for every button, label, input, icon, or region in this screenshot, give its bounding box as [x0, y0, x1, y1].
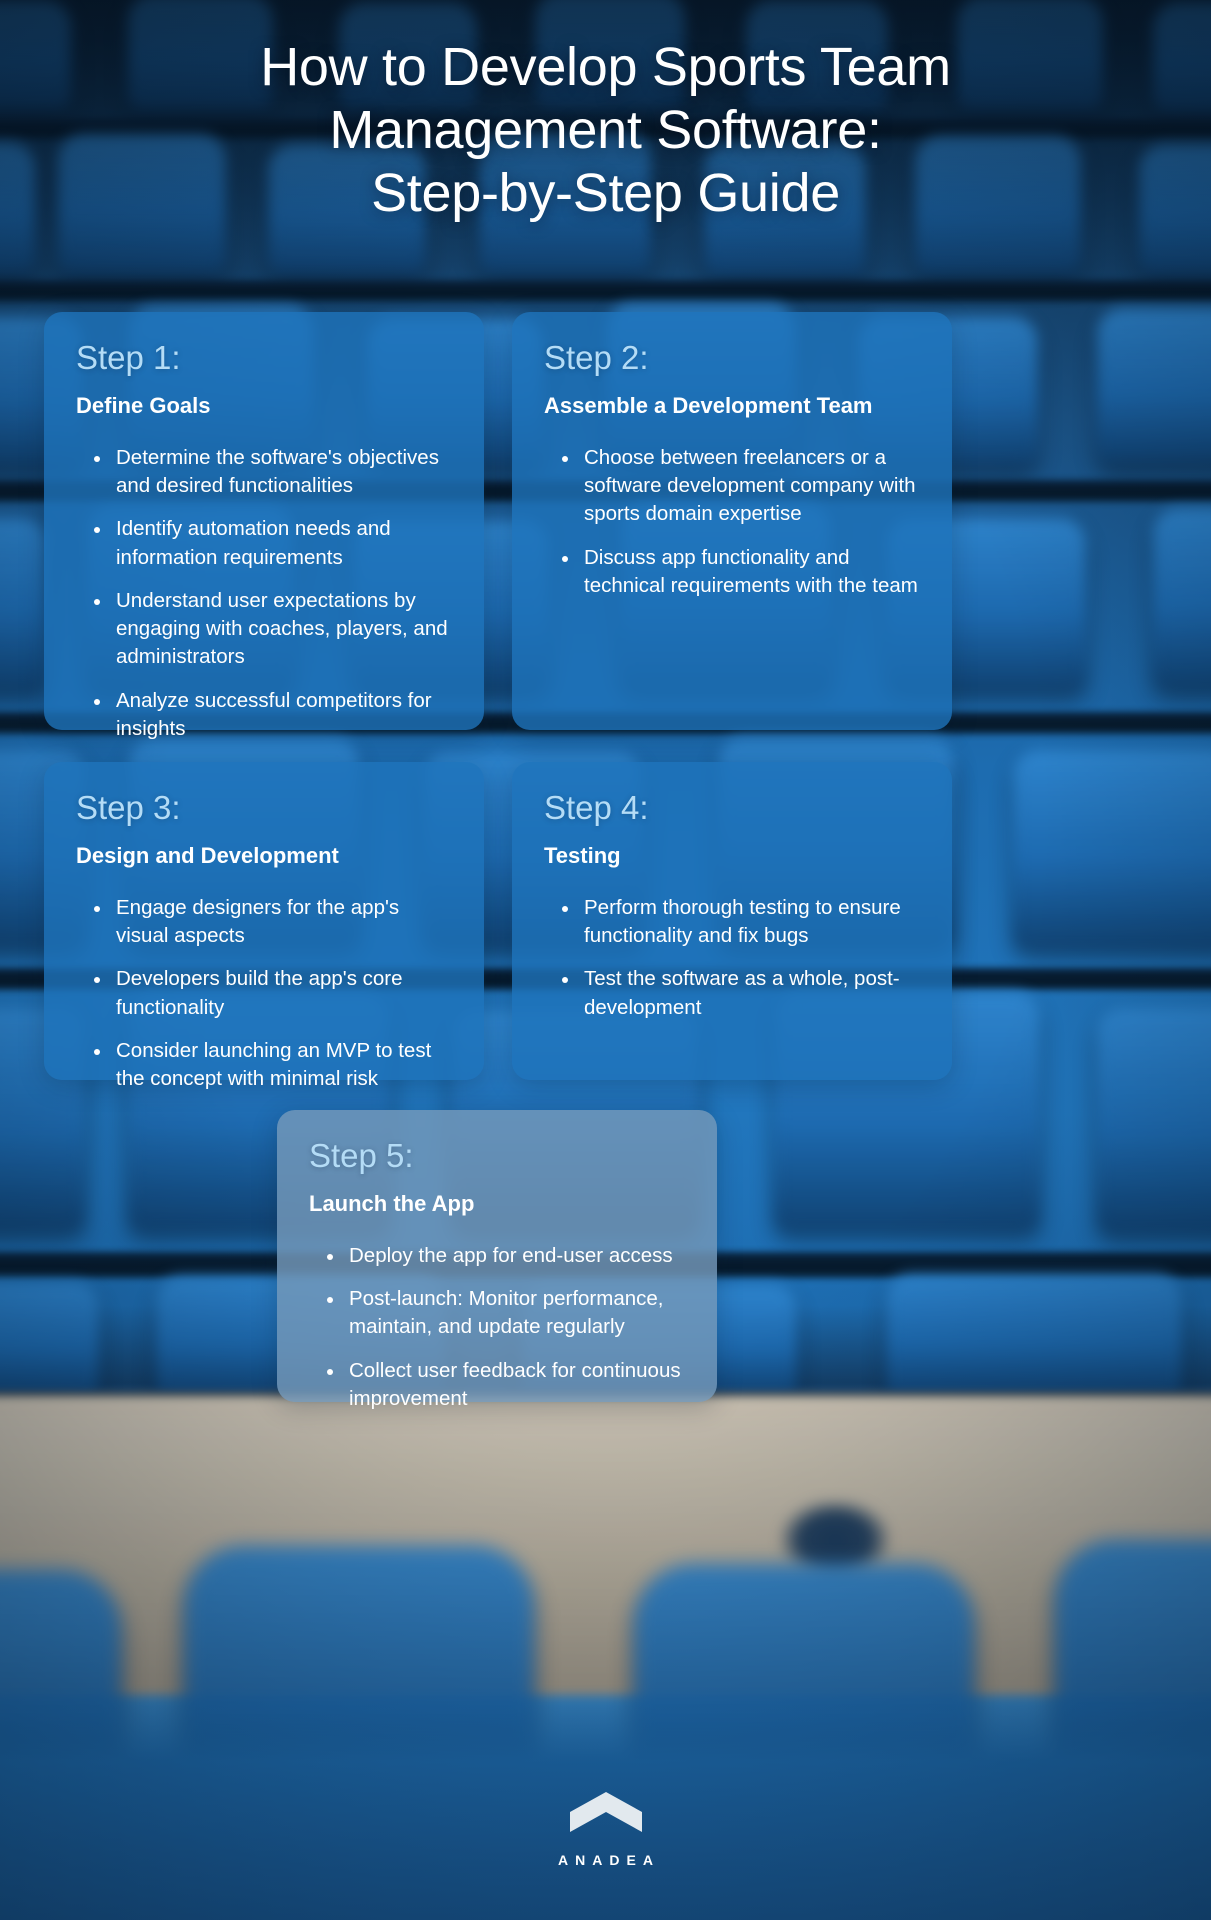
list-item: Perform thorough testing to ensure funct… [554, 894, 922, 951]
step-4-bullet-list: Perform thorough testing to ensure funct… [544, 894, 922, 1022]
title-line-3: Step-by-Step Guide [106, 162, 1106, 225]
step-4-label: Step 4: [544, 790, 922, 826]
step-3-title: Design and Development [76, 842, 454, 870]
title-line-2: Management Software: [106, 99, 1106, 162]
step-5-bullet-list: Deploy the app for end-user access Post-… [309, 1242, 687, 1413]
step-5-label: Step 5: [309, 1138, 687, 1174]
list-item: Understand user expectations by engaging… [86, 587, 454, 672]
list-item: Test the software as a whole, post-devel… [554, 965, 922, 1022]
step-1-title: Define Goals [76, 392, 454, 420]
step-card-4: Step 4: Testing Perform thorough testing… [512, 762, 952, 1080]
step-2-title: Assemble a Development Team [544, 392, 922, 420]
list-item: Choose between freelancers or a software… [554, 444, 922, 529]
list-item: Engage designers for the app's visual as… [86, 894, 454, 951]
list-item: Determine the software's objectives and … [86, 444, 454, 501]
step-5-title: Launch the App [309, 1190, 687, 1218]
step-2-bullet-list: Choose between freelancers or a software… [544, 444, 922, 600]
list-item: Analyze successful competitors for insig… [86, 687, 454, 744]
title-line-1: How to Develop Sports Team [106, 36, 1106, 99]
list-item: Identify automation needs and informatio… [86, 515, 454, 572]
footer: ANADEA [0, 1790, 1211, 1868]
list-item: Consider launching an MVP to test the co… [86, 1037, 454, 1094]
list-item: Post-launch: Monitor performance, mainta… [319, 1285, 687, 1342]
step-card-1: Step 1: Define Goals Determine the softw… [44, 312, 484, 730]
step-card-3: Step 3: Design and Development Engage de… [44, 762, 484, 1080]
step-3-bullet-list: Engage designers for the app's visual as… [76, 894, 454, 1094]
chevron-logo-icon [568, 1790, 644, 1834]
step-3-label: Step 3: [76, 790, 454, 826]
list-item: Collect user feedback for continuous imp… [319, 1357, 687, 1414]
brand-wordmark: ANADEA [551, 1852, 660, 1868]
list-item: Discuss app functionality and technical … [554, 544, 922, 601]
list-item: Deploy the app for end-user access [319, 1242, 687, 1270]
step-card-5: Step 5: Launch the App Deploy the app fo… [277, 1110, 717, 1402]
page-title: How to Develop Sports Team Management So… [106, 0, 1106, 226]
step-2-label: Step 2: [544, 340, 922, 376]
step-card-2: Step 2: Assemble a Development Team Choo… [512, 312, 952, 730]
step-1-label: Step 1: [76, 340, 454, 376]
list-item: Developers build the app's core function… [86, 965, 454, 1022]
step-1-bullet-list: Determine the software's objectives and … [76, 444, 454, 744]
step-4-title: Testing [544, 842, 922, 870]
